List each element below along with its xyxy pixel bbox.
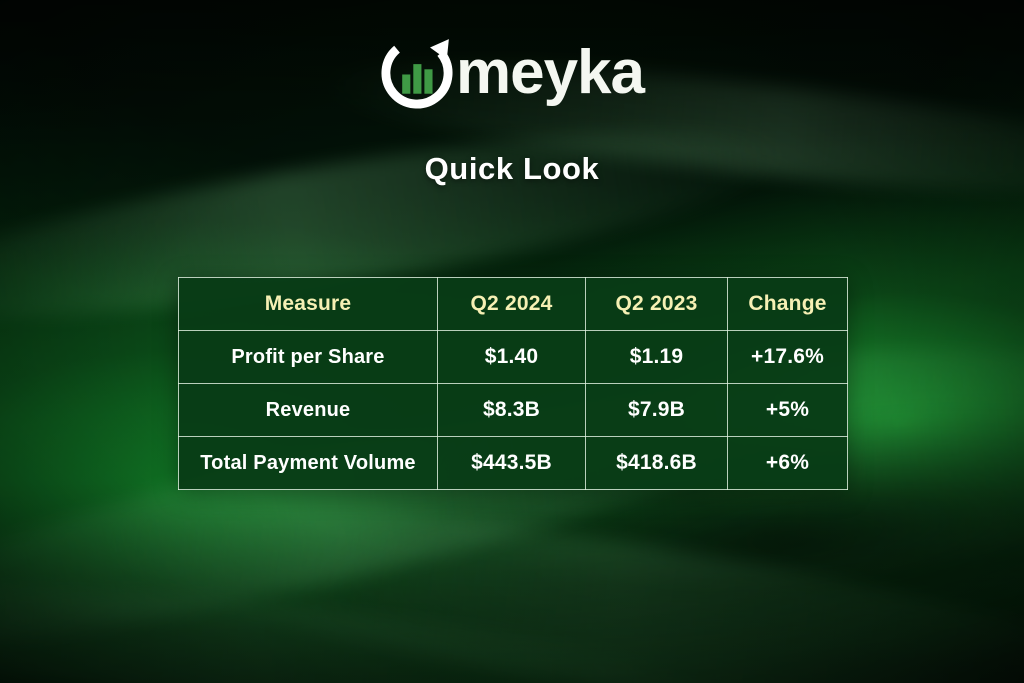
cell-q2-2023: $1.19 — [586, 331, 728, 384]
cell-measure: Profit per Share — [179, 331, 438, 384]
brand-logo: meyka — [0, 36, 1024, 110]
table-row: Total Payment Volume $443.5B $418.6B +6% — [179, 437, 848, 490]
cell-change: +6% — [728, 437, 848, 490]
page-title: Quick Look — [0, 151, 1024, 187]
cell-change: +17.6% — [728, 331, 848, 384]
column-header-q2-2024: Q2 2024 — [438, 278, 586, 331]
cell-q2-2024: $1.40 — [438, 331, 586, 384]
column-header-change: Change — [728, 278, 848, 331]
quick-look-table-container: Measure Q2 2024 Q2 2023 Change Profit pe… — [178, 277, 847, 490]
table-header-row: Measure Q2 2024 Q2 2023 Change — [179, 278, 848, 331]
table-row: Revenue $8.3B $7.9B +5% — [179, 384, 848, 437]
cell-measure: Total Payment Volume — [179, 437, 438, 490]
brand-name: meyka — [456, 42, 644, 104]
cell-q2-2023: $418.6B — [586, 437, 728, 490]
cell-measure: Revenue — [179, 384, 438, 437]
cell-change: +5% — [728, 384, 848, 437]
quick-look-infographic: meyka Quick Look Measure Q2 2024 Q2 2023… — [0, 0, 1024, 683]
column-header-q2-2023: Q2 2023 — [586, 278, 728, 331]
column-header-measure: Measure — [179, 278, 438, 331]
cell-q2-2023: $7.9B — [586, 384, 728, 437]
circular-arrow-bar-chart-icon — [380, 36, 454, 110]
quick-look-table: Measure Q2 2024 Q2 2023 Change Profit pe… — [178, 277, 848, 490]
cell-q2-2024: $8.3B — [438, 384, 586, 437]
cell-q2-2024: $443.5B — [438, 437, 586, 490]
table-row: Profit per Share $1.40 $1.19 +17.6% — [179, 331, 848, 384]
